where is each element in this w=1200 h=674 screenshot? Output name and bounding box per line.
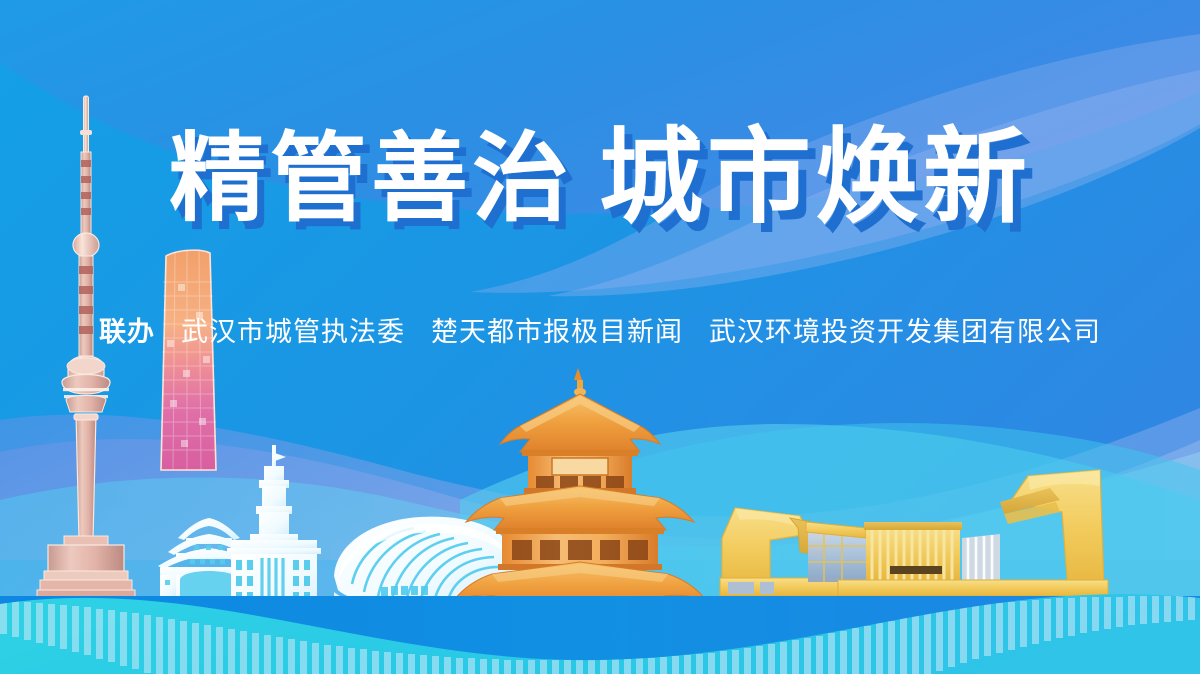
banner-canvas: 精管善治城市焕新 联办武汉市城管执法委楚天都市报极目新闻武汉环境投资开发集团有限… bbox=[0, 0, 1200, 674]
foreground-waves bbox=[0, 0, 1200, 674]
